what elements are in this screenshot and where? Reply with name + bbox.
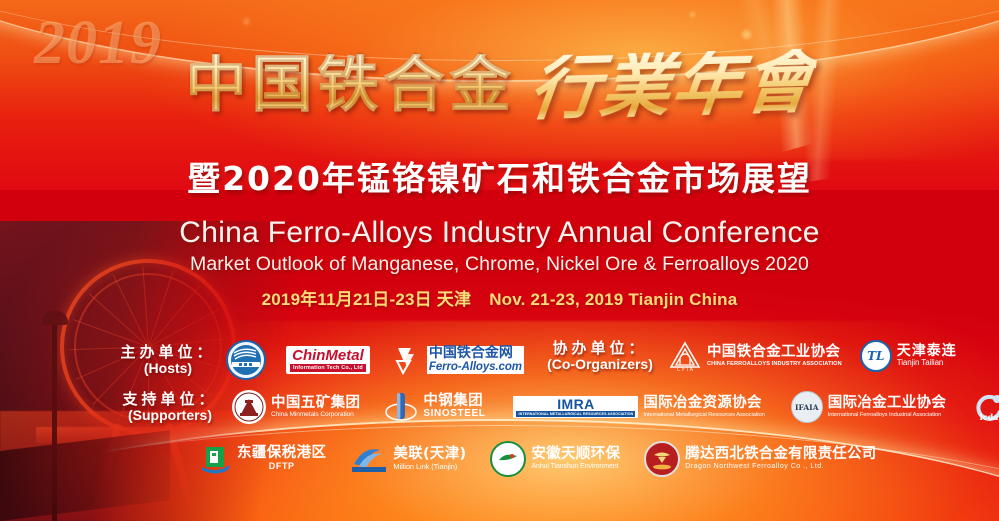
minmetals-names: 中国五矿集团 China Minmetals Corporation [271, 396, 360, 419]
event-date-location: 2019年11月21日-23日 天津Nov. 21-23, 2019 Tianj… [0, 285, 999, 310]
ferro-alloys-icon [394, 345, 424, 375]
chinmetal-wordmark-icon: ChinMetal Information Tech Co., Ltd [286, 346, 370, 374]
subtitle-chinese: 暨2020年锰铬镍矿石和铁合金市场展望 [0, 152, 999, 200]
sparkle-icon [243, 18, 250, 25]
imra-names: 国际冶金资源协会 International Metallurgical Res… [643, 396, 764, 418]
cfia-arch-icon: C F I A [668, 340, 702, 372]
sponsor-logo-anhui-tianshun[interactable]: 安徽天顺环保 Anhui Tianshun Environment [490, 441, 620, 477]
co-organizers-label: 协办单位： (Co-Organizers) [540, 341, 660, 371]
sponsor-logo-icda[interactable]: icda 国际铬发展协会 International Chrome Develo… [972, 391, 999, 423]
icda-icon: icda [972, 391, 999, 423]
dftp-icon [200, 443, 232, 475]
svg-text:icda: icda [980, 412, 999, 422]
tianjin-tailian-icon: TL [860, 340, 892, 372]
sponsor-logo-cfia[interactable]: C F I A 中国铁合金工业协会 CHINA FERROALLOYS INDU… [668, 340, 842, 372]
chinmetal-name: ChinMetal [292, 348, 364, 363]
event-date-cn: 2019年11月21日-23日 天津 [262, 290, 472, 309]
million-link-icon [350, 444, 388, 474]
sponsor-logo-imra[interactable]: IMRA INTERNATIONAL METALLURGICAL RESOURC… [513, 396, 764, 418]
sponsor-logo-chinmetal[interactable]: ChinMetal Information Tech Co., Ltd [286, 346, 370, 374]
imra-icon: IMRA INTERNATIONAL METALLURGICAL RESOURC… [513, 396, 638, 418]
svg-text:C F I A: C F I A [677, 367, 694, 372]
title-calligraphy: 行業年會 [525, 48, 818, 122]
sparkle-icon [742, 30, 751, 39]
sponsor-group-hosts: 主办单位： (Hosts) [118, 340, 524, 380]
ifaia-names: 国际冶金工业协会 International Ferroalloys Indus… [828, 396, 946, 418]
anhui-tianshun-names: 安徽天顺环保 Anhui Tianshun Environment [531, 447, 620, 470]
sponsor-logo-sinosteel[interactable]: 中钢集团 SINOSTEEL [384, 390, 485, 424]
sponsor-logo-ifaia[interactable]: IFAIA 国际冶金工业协会 International Ferroalloys… [791, 391, 946, 423]
title-english: China Ferro-Alloys Industry Annual Confe… [0, 216, 999, 250]
sinosteel-names: 中钢集团 SINOSTEEL [423, 394, 485, 420]
anhui-tianshun-icon [490, 441, 526, 477]
hosts-label: 主办单位： (Hosts) [118, 345, 218, 375]
sponsor-logo-dftp[interactable]: 东疆保税港区 DFTP [200, 443, 326, 475]
sponsor-logo-chinmetal-globe[interactable] [226, 340, 266, 380]
sponsor-logo-ferro-alloys[interactable]: 中国铁合金网 Ferro-Alloys.com [394, 345, 524, 375]
cfia-names: 中国铁合金工业协会 CHINA FERROALLOYS INDUSTRY ASS… [707, 345, 842, 367]
dragon-northwest-names: 腾达西北铁合金有限责任公司 Dragon Northwest Ferroallo… [685, 447, 876, 470]
dragon-northwest-icon [644, 441, 680, 477]
page-title: 中国铁合金 [185, 54, 515, 115]
sponsor-section: 主办单位： (Hosts) [0, 336, 999, 496]
minmetals-icon [232, 390, 266, 424]
sinosteel-icon [384, 390, 418, 424]
sponsor-group-co-organizers: 协办单位： (Co-Organizers) C F I A 中国铁合金工业协会 … [540, 340, 957, 372]
conference-banner: 2019 中国铁合金 行業年會 暨2020年锰铬镍矿石和铁合金市场展望 Chin… [0, 0, 999, 521]
chinmetal-tagline: Information Tech Co., Ltd [290, 364, 366, 372]
sponsor-logo-million-link[interactable]: 美联(天津) Million Link (Tianjin) [350, 444, 466, 474]
million-link-names: 美联(天津) Million Link (Tianjin) [393, 447, 466, 471]
tianjin-tailian-names: 天津泰连 Tianjin Tailian [897, 344, 957, 368]
sparkle-icon [690, 12, 695, 17]
main-title-row: 中国铁合金 行業年會 [0, 52, 999, 115]
event-date-en: Nov. 21-23, 2019 Tianjin China [489, 290, 737, 309]
sponsor-logo-minmetals[interactable]: 中国五矿集团 China Minmetals Corporation [232, 390, 360, 424]
ifaia-icon: IFAIA [791, 391, 823, 423]
dftp-names: 东疆保税港区 DFTP [237, 446, 326, 471]
sponsor-group-supporters-row2: 东疆保税港区 DFTP 美联(天津) Million Link (Tianjin… [200, 441, 876, 477]
chinmetal-globe-icon [226, 340, 266, 380]
ferro-alloys-names: 中国铁合金网 Ferro-Alloys.com [427, 346, 524, 374]
sponsor-logo-tianjin-tailian[interactable]: TL 天津泰连 Tianjin Tailian [860, 340, 957, 372]
supporters-label: 支持单位： (Supporters) [118, 392, 222, 422]
subtitle-english: Market Outlook of Manganese, Chrome, Nic… [0, 253, 999, 276]
sponsor-group-supporters: 支持单位： (Supporters) 中国五矿集团 China Minmetal… [118, 390, 999, 424]
sponsor-logo-dragon-northwest[interactable]: 腾达西北铁合金有限责任公司 Dragon Northwest Ferroallo… [644, 441, 876, 477]
